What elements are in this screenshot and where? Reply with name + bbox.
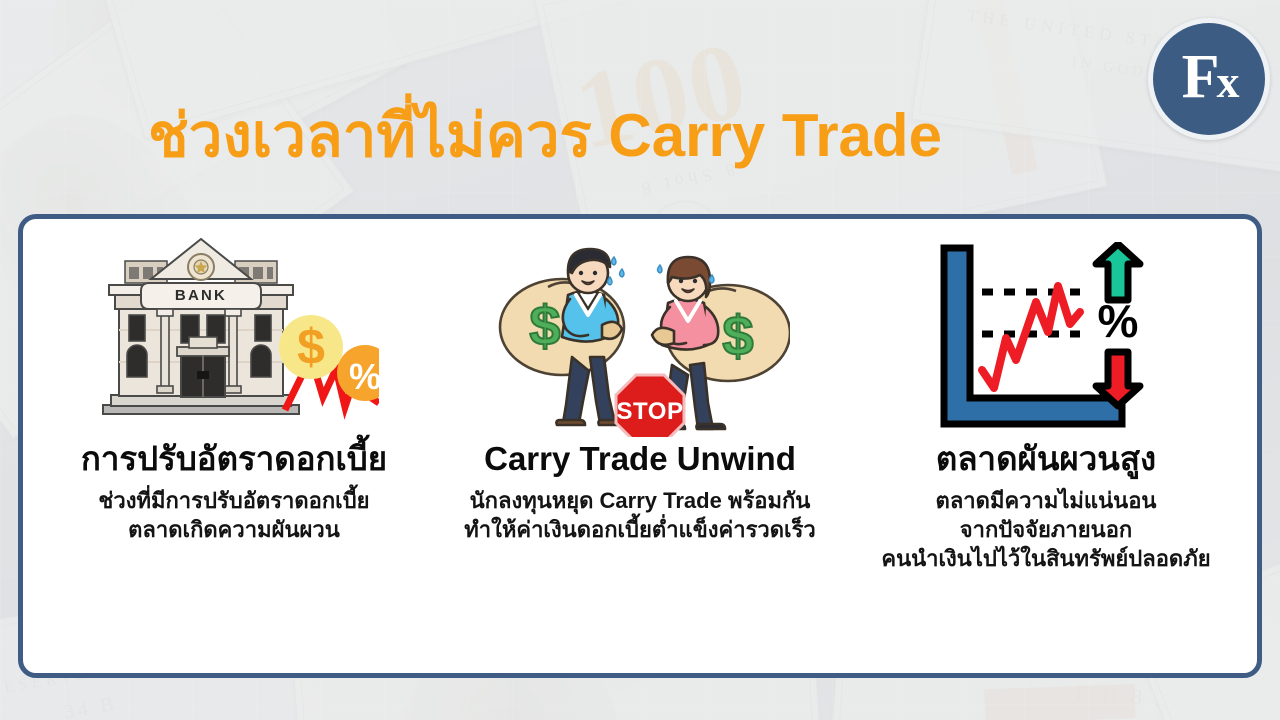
- column-3-description: ตลาดมีความไม่แน่นอน จากปัจจัยภายนอก คนนำ…: [881, 486, 1210, 573]
- page-title: ช่วงเวลาที่ไม่ควร Carry Trade: [0, 104, 1090, 167]
- investors-svg: $ $: [490, 237, 790, 437]
- infographic-slide: 100 FEDERAL RESERVE B 34 100 100 8 Shot …: [0, 0, 1280, 720]
- bank-building-svg: BANK: [89, 237, 379, 437]
- volatility-chart-icon: %: [938, 242, 1154, 432]
- column-3-description-line-3: คนนำเงินไปไว้ในสินทรัพย์ปลอดภัย: [881, 544, 1210, 573]
- column-carry-trade-unwind: $ $: [437, 237, 843, 544]
- svg-text:$: $: [297, 319, 325, 375]
- column-1-description-line-1: ช่วงที่มีการปรับอัตราดอกเบี้ย: [98, 486, 369, 515]
- volatility-chart-svg: %: [938, 242, 1154, 432]
- arrow-up-icon: [1096, 244, 1140, 300]
- column-3-description-line-2: จากปัจจัยภายนอก: [881, 515, 1210, 544]
- column-2-title: Carry Trade Unwind: [484, 441, 796, 478]
- column-interest-rate-adjustment: BANK: [31, 237, 437, 544]
- column-3-illustration: %: [849, 237, 1243, 437]
- svg-text:$: $: [529, 294, 560, 357]
- content-card: BANK: [18, 214, 1262, 678]
- column-high-market-volatility: % ตลาดผันผวนสูง ตลาดมีความไม่แน่นอน จากป…: [843, 237, 1249, 573]
- column-2-description-line-1: นักลงทุนหยุด Carry Trade พร้อมกัน: [464, 486, 815, 515]
- column-2-illustration: $ $: [443, 237, 837, 437]
- logo-letter-x: x: [1216, 56, 1236, 107]
- svg-text:%: %: [349, 356, 379, 397]
- column-1-description-line-2: ตลาดเกิดความผันผวน: [98, 515, 369, 544]
- svg-text:$: $: [722, 304, 753, 367]
- stop-sign-label: STOP: [617, 398, 684, 425]
- logo-text: Fx: [1182, 46, 1237, 108]
- column-1-description: ช่วงที่มีการปรับอัตราดอกเบี้ย ตลาดเกิดคว…: [98, 486, 369, 544]
- column-1-title: การปรับอัตราดอกเบี้ย: [81, 441, 387, 478]
- column-2-description: นักลงทุนหยุด Carry Trade พร้อมกัน ทำให้ค…: [464, 486, 815, 544]
- column-2-description-line-2: ทำให้ค่าเงินดอกเบี้ยต่ำแข็งค่ารวดเร็ว: [464, 515, 815, 544]
- column-1-illustration: BANK: [37, 237, 431, 437]
- brand-logo[interactable]: Fx: [1148, 18, 1270, 140]
- percent-symbol: %: [1098, 295, 1139, 347]
- column-3-title: ตลาดผันผวนสูง: [936, 441, 1156, 478]
- investors-money-bags-stop-icon: $ $: [490, 237, 790, 437]
- bank-building-icon: BANK: [89, 237, 379, 437]
- column-3-description-line-1: ตลาดมีความไม่แน่นอน: [881, 486, 1210, 515]
- logo-letter-f: F: [1182, 43, 1217, 111]
- bank-sign-label: BANK: [175, 287, 227, 304]
